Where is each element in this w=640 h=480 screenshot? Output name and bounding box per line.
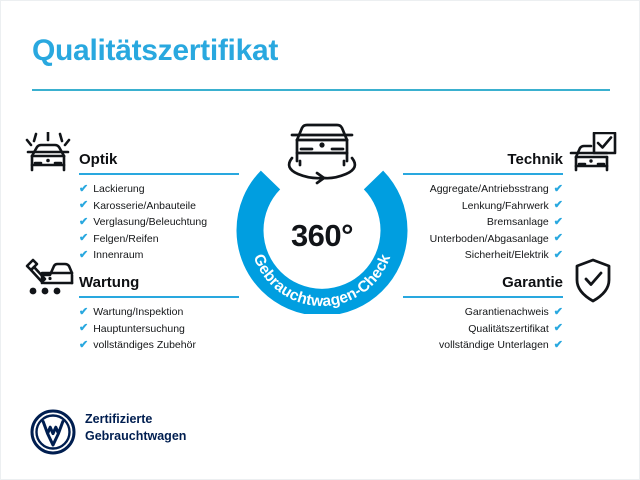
- check-icon: ✔: [554, 184, 563, 195]
- list-item: Bremsanlage✔: [430, 214, 563, 231]
- list-item-label: Felgen/Reifen: [93, 231, 158, 248]
- list-item: Qualitätszertifikat✔: [439, 321, 563, 338]
- list-item-label: Innenraum: [93, 247, 143, 264]
- section-list-technik: Aggregate/Antriebsstrang✔ Lenkung/Fahrwe…: [430, 181, 563, 264]
- list-item-label: Sicherheit/Elektrik: [465, 247, 549, 264]
- list-item: ✔vollständiges Zubehör: [79, 337, 196, 354]
- volkswagen-logo: [30, 409, 76, 460]
- list-item-label: Bremsanlage: [487, 214, 549, 231]
- list-item: ✔Felgen/Reifen: [79, 231, 207, 248]
- check-icon: ✔: [79, 323, 88, 334]
- list-item-label: Garantienachweis: [465, 304, 549, 321]
- section-list-wartung: ✔Wartung/Inspektion ✔Hauptuntersuchung ✔…: [79, 304, 196, 354]
- section-divider-optik: [79, 173, 239, 175]
- check-icon: ✔: [554, 233, 563, 244]
- certificate-page: Qualitätszertifikat: [0, 0, 640, 480]
- section-list-optik: ✔Lackierung ✔Karosserie/Anbauteile ✔Verg…: [79, 181, 207, 264]
- check-icon: ✔: [79, 250, 88, 261]
- section-wartung: Wartung ✔Wartung/Inspektion ✔Hauptunters…: [79, 266, 239, 294]
- check-icon: ✔: [79, 307, 88, 318]
- check-icon: ✔: [79, 340, 88, 351]
- list-item: vollständige Unterlagen✔: [439, 337, 563, 354]
- list-item: ✔Karosserie/Anbauteile: [79, 198, 207, 215]
- list-item: ✔Verglasung/Beleuchtung: [79, 214, 207, 231]
- car-wash-icon: [23, 132, 73, 182]
- list-item-label: Unterboden/Abgasanlage: [430, 231, 549, 248]
- list-item: Unterboden/Abgasanlage✔: [430, 231, 563, 248]
- check-icon: ✔: [79, 217, 88, 228]
- list-item-label: Lenkung/Fahrwerk: [462, 198, 549, 215]
- check-icon: ✔: [79, 184, 88, 195]
- list-item: ✔Lackierung: [79, 181, 207, 198]
- list-item-label: Hauptuntersuchung: [93, 321, 185, 338]
- list-item-label: Lackierung: [93, 181, 144, 198]
- footer-line-2: Gebrauchtwagen: [85, 428, 186, 445]
- list-item: Garantienachweis✔: [439, 304, 563, 321]
- list-item-label: Verglasung/Beleuchtung: [93, 214, 207, 231]
- section-list-garantie: Garantienachweis✔ Qualitätszertifikat✔ v…: [439, 304, 563, 354]
- check-icon: ✔: [554, 323, 563, 334]
- shield-check-icon: [573, 258, 613, 309]
- badge-360-check: Gebrauchtwagen-Check: [229, 114, 415, 314]
- list-item: Sicherheit/Elektrik✔: [430, 247, 563, 264]
- section-garantie: Garantie Garantienachweis✔ Qualitätszert…: [403, 266, 563, 294]
- list-item-label: vollständige Unterlagen: [439, 337, 549, 354]
- section-divider-garantie: [403, 296, 563, 298]
- section-title-wartung: Wartung: [79, 274, 139, 291]
- check-icon: ✔: [554, 200, 563, 211]
- header-divider: [32, 89, 610, 91]
- list-item: Aggregate/Antriebsstrang✔: [430, 181, 563, 198]
- page-title: Qualitätszertifikat: [32, 34, 278, 68]
- section-divider-wartung: [79, 296, 239, 298]
- footer-line-1: Zertifizierte: [85, 411, 186, 428]
- check-icon: ✔: [79, 233, 88, 244]
- list-item-label: Aggregate/Antriebsstrang: [430, 181, 549, 198]
- check-icon: ✔: [554, 217, 563, 228]
- list-item-label: Qualitätszertifikat: [468, 321, 549, 338]
- list-item-label: Karosserie/Anbauteile: [93, 198, 196, 215]
- car-checkbox-icon: [567, 132, 617, 183]
- list-item: Lenkung/Fahrwerk✔: [430, 198, 563, 215]
- list-item: ✔Wartung/Inspektion: [79, 304, 196, 321]
- check-icon: ✔: [554, 307, 563, 318]
- check-icon: ✔: [554, 340, 563, 351]
- check-icon: ✔: [79, 200, 88, 211]
- badge-degrees-label: 360°: [229, 218, 415, 254]
- section-title-optik: Optik: [79, 151, 117, 168]
- section-technik: Technik Aggregate/Antriebsstrang✔ Lenkun…: [403, 143, 563, 171]
- list-item: ✔Hauptuntersuchung: [79, 321, 196, 338]
- list-item: ✔Innenraum: [79, 247, 207, 264]
- section-optik: Optik ✔Lackierung ✔Karosserie/Anbauteile…: [79, 143, 239, 171]
- check-icon: ✔: [554, 250, 563, 261]
- section-title-garantie: Garantie: [502, 274, 563, 291]
- section-title-technik: Technik: [507, 151, 563, 168]
- section-divider-technik: [403, 173, 563, 175]
- car-service-tool-icon: [23, 257, 75, 310]
- list-item-label: vollständiges Zubehör: [93, 337, 196, 354]
- footer-text: Zertifizierte Gebrauchtwagen: [85, 411, 186, 445]
- list-item-label: Wartung/Inspektion: [93, 304, 183, 321]
